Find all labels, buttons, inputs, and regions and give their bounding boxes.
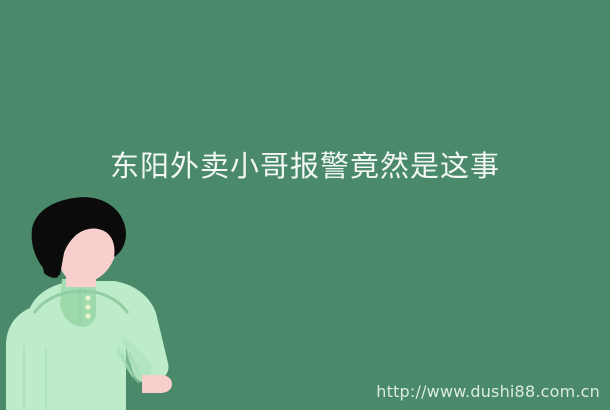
page-title: 东阳外卖小哥报警竟然是这事	[0, 148, 610, 184]
delivery-man-illustration	[0, 195, 200, 410]
hand-shape	[142, 375, 172, 393]
collar-buttons	[85, 295, 90, 318]
news-banner: 东阳外卖小哥报警竟然是这事	[0, 0, 610, 410]
site-url-watermark: http://www.dushi88.com.cn	[376, 382, 600, 402]
